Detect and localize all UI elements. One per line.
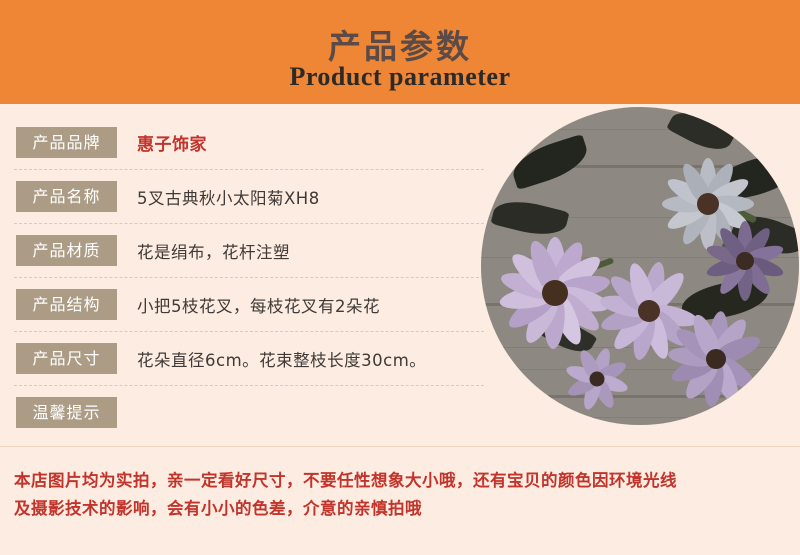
spec-value: 花朵直径6cm。花束整枝长度30cm。	[137, 347, 426, 371]
footer-note-line-2: 及摄影技术的影响，会有小小的色差，介意的亲慎拍哦	[14, 495, 422, 519]
page-title-cn: 产品参数	[0, 20, 800, 68]
spec-label: 产品尺寸	[16, 343, 117, 374]
spec-label: 产品品牌	[16, 127, 117, 158]
footer-note: 本店图片均为实拍，亲一定看好尺寸，不要任性想象大小哦，还有宝贝的颜色因环境光线 …	[0, 446, 800, 555]
table-row: 产品品牌 惠子饰家	[14, 116, 484, 170]
spec-value: 小把5枝花叉，每枝花叉有2朵花	[137, 293, 380, 317]
flower-bloom	[657, 303, 775, 415]
table-row: 产品材质 花是绢布，花杆注塑	[14, 224, 484, 278]
product-parameter-page: 产品参数 Product parameter 产品品牌 惠子饰家 产品名称 5叉…	[0, 0, 800, 554]
main-content: 产品品牌 惠子饰家 产品名称 5叉古典秋小太阳菊XH8 产品材质 花是绢布，花杆…	[0, 104, 800, 446]
spec-value: 花是绢布，花杆注塑	[137, 239, 290, 263]
wood-grain	[481, 417, 799, 418]
product-photo	[481, 107, 799, 425]
header-banner: 产品参数 Product parameter	[0, 0, 800, 104]
table-row: 产品结构 小把5枝花叉，每枝花叉有2朵花	[14, 278, 484, 332]
table-row: 温馨提示	[14, 386, 484, 439]
spec-label: 产品材质	[16, 235, 117, 266]
footer-note-line-1: 本店图片均为实拍，亲一定看好尺寸，不要任性想象大小哦，还有宝贝的颜色因环境光线	[14, 467, 677, 491]
spec-label: 温馨提示	[16, 397, 117, 428]
flower-bud	[559, 343, 635, 415]
table-row: 产品尺寸 花朵直径6cm。花束整枝长度30cm。	[14, 332, 484, 386]
flower-bloom	[693, 211, 797, 311]
spec-label: 产品名称	[16, 181, 117, 212]
product-photo-content	[481, 107, 799, 425]
wood-grain	[481, 129, 799, 130]
spec-label: 产品结构	[16, 289, 117, 320]
page-title-en: Product parameter	[0, 62, 800, 92]
spec-table: 产品品牌 惠子饰家 产品名称 5叉古典秋小太阳菊XH8 产品材质 花是绢布，花杆…	[14, 116, 484, 439]
table-row: 产品名称 5叉古典秋小太阳菊XH8	[14, 170, 484, 224]
spec-value: 5叉古典秋小太阳菊XH8	[137, 185, 320, 209]
spec-value: 惠子饰家	[137, 130, 207, 155]
